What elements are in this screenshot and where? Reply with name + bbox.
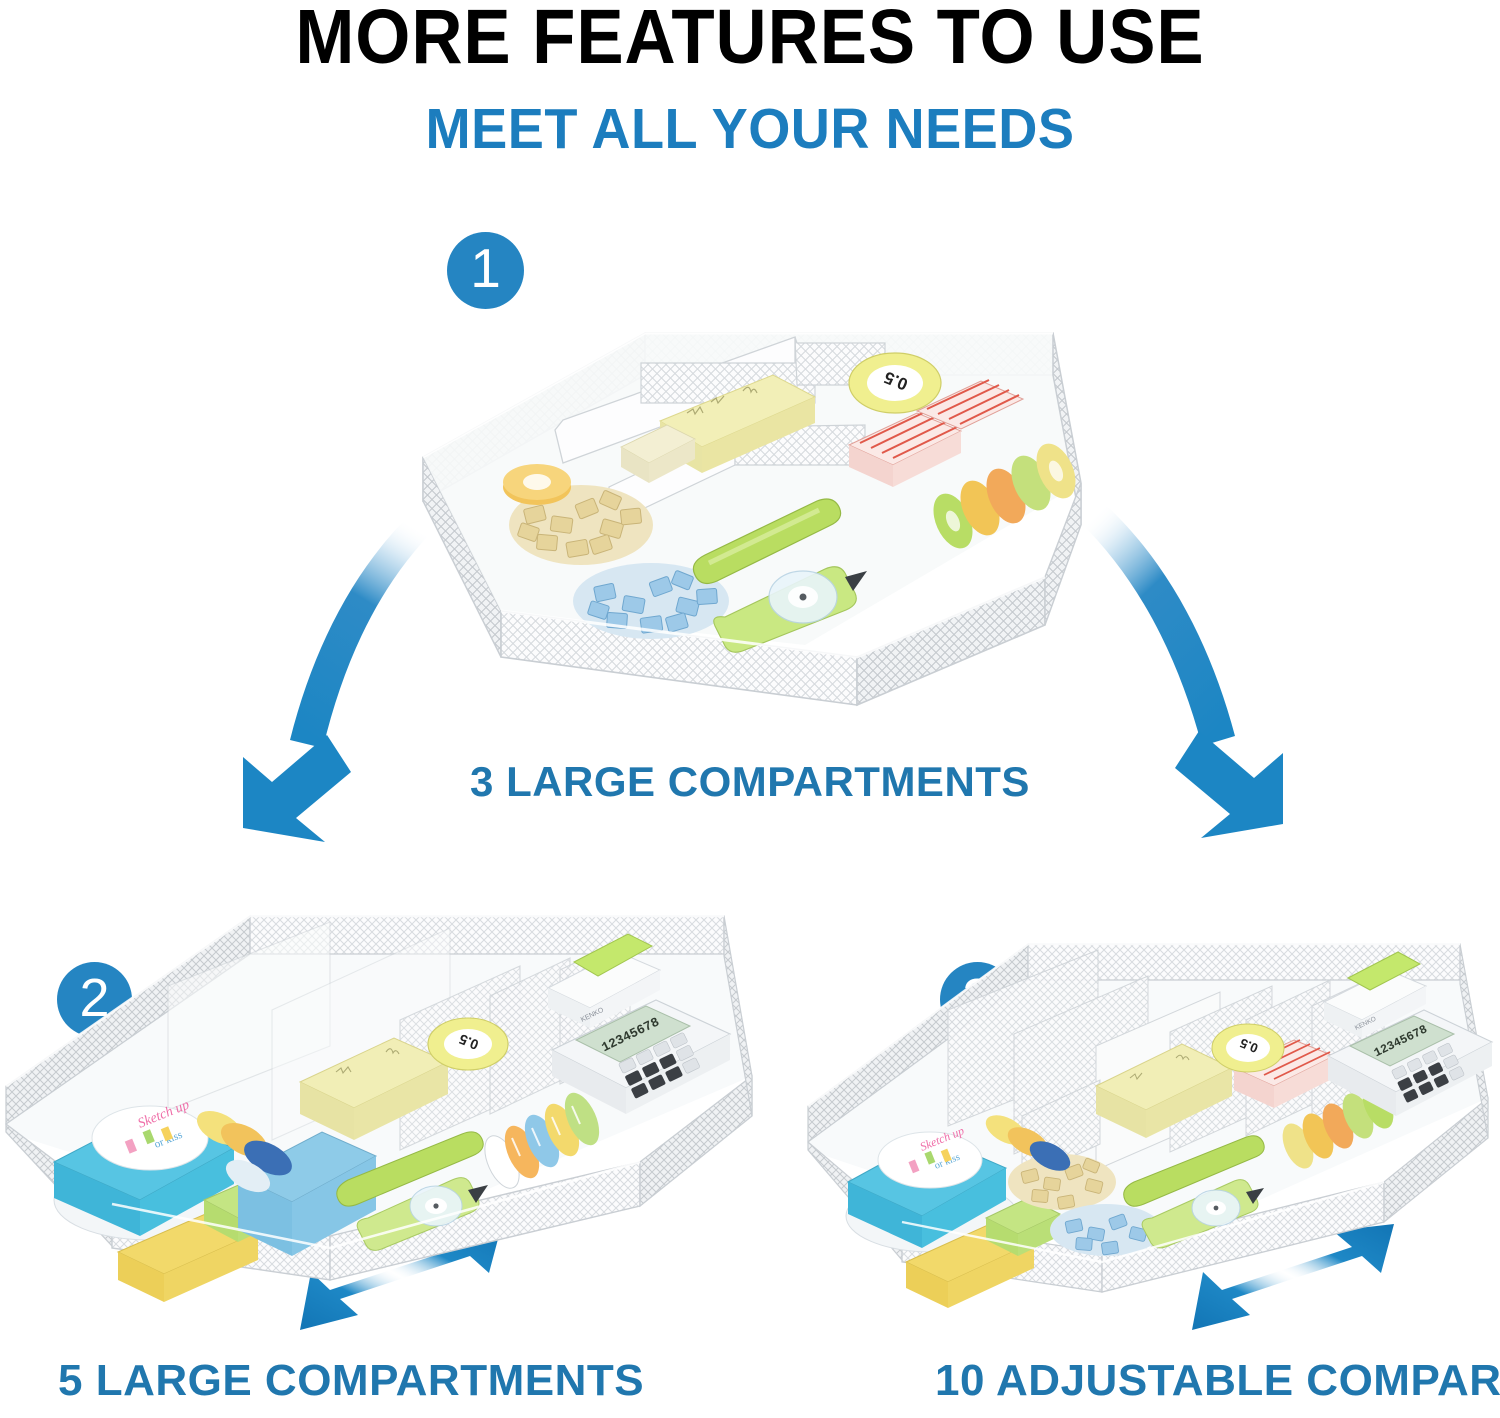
caption-step-2: 5 LARGE COMPARTMENTS bbox=[58, 1356, 644, 1406]
page-title: MORE FEATURES TO USE bbox=[60, 0, 1440, 80]
product-image-step-3: Sketch up or kiss bbox=[800, 930, 1500, 1330]
page-subtitle: MEET ALL YOUR NEEDS bbox=[38, 96, 1463, 162]
content-washi-tape-labeled: 0.5 bbox=[849, 353, 941, 413]
product-image-step-2: Sketch up or kiss bbox=[0, 900, 760, 1320]
caption-step-3: 10 ADJUSTABLE COMPARTMENTS bbox=[935, 1356, 1500, 1406]
content-washi-tape-labeled-3: 0.5 bbox=[1212, 1024, 1284, 1072]
caption-step-1: 3 LARGE COMPARTMENTS bbox=[0, 758, 1500, 806]
content-tape-roll-orange bbox=[503, 464, 571, 505]
content-washi-tape-labeled-2: 0.5 bbox=[428, 1018, 508, 1070]
product-image-step-1: 0.5 bbox=[405, 225, 1105, 715]
